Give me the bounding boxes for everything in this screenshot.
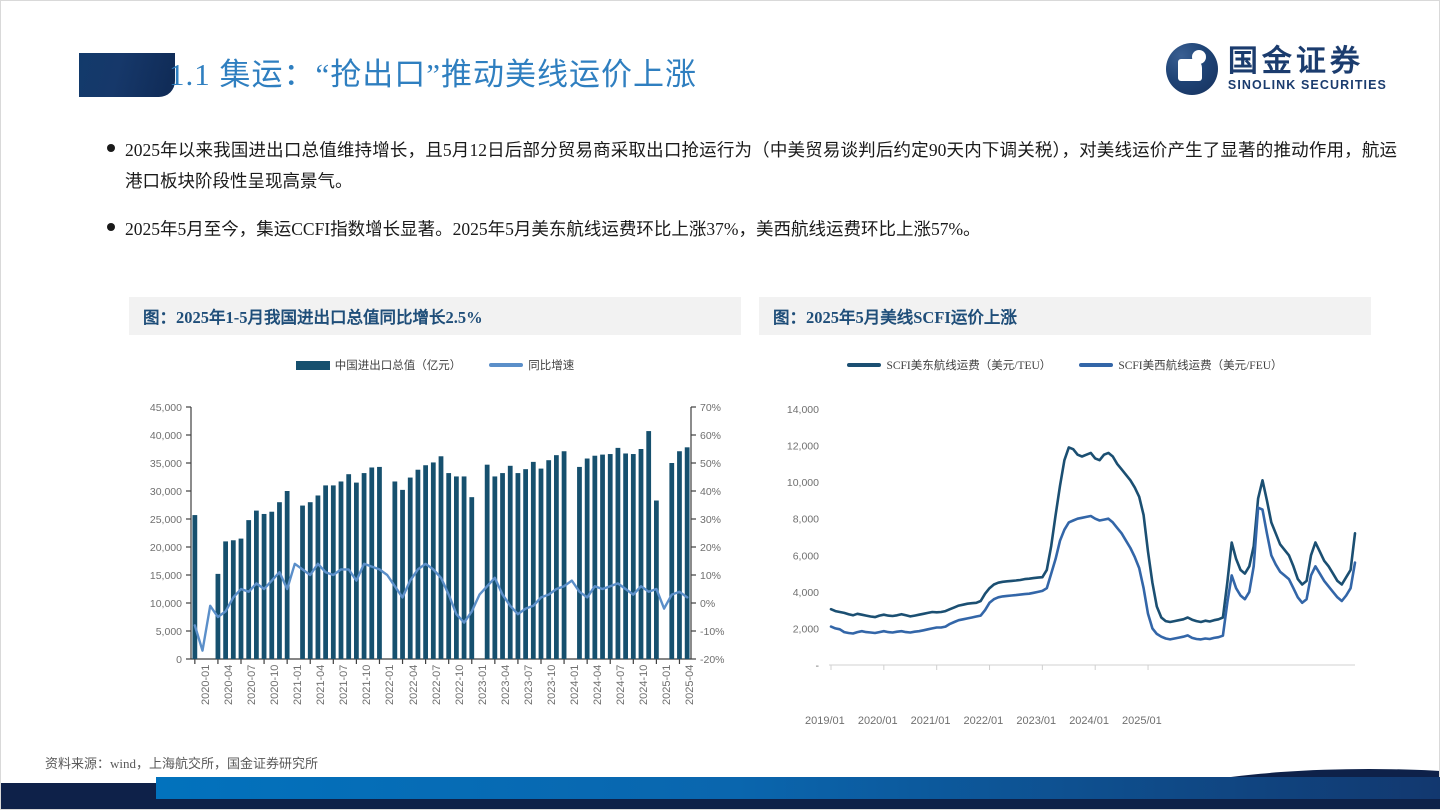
logo-en-name: SINOLINK SECURITIES [1228,78,1387,92]
svg-text:4,000: 4,000 [793,587,819,599]
x-tick-label: 2021-10 [361,665,373,705]
slide: 1.1 集运：“抢出口”推动美线运价上涨 国金证券 SINOLINK SECUR… [0,0,1440,810]
svg-text:10,000: 10,000 [787,477,819,489]
chart-body-scfi: SCFI美东航线运费（美元/TEU） SCFI美西航线运费（美元/FEU） -2… [759,335,1371,755]
chart-plot-trade: 05,00010,00015,00020,00025,00030,00035,0… [129,397,741,697]
x-tick-label: 2019/01 [805,715,845,727]
x-tick-label: 2020-10 [269,665,281,705]
chart-title-trade: 图：2025年1-5月我国进出口总值同比增长2.5% [143,304,483,328]
legend-label: SCFI美东航线运费（美元/TEU） [886,357,1051,373]
logo-text: 国金证券 SINOLINK SECURITIES [1228,46,1387,92]
svg-text:20,000: 20,000 [150,542,182,554]
x-tick-label: 2022-04 [408,665,420,705]
chart-title-bar-trade: 图：2025年1-5月我国进出口总值同比增长2.5% [129,297,741,335]
chart-body-trade: 中国进出口总值（亿元） 同比增速 05,00010,00015,00020,00… [129,335,741,755]
legend-item-scfi-west: SCFI美西航线运费（美元/FEU） [1079,357,1282,373]
bullet-dot-icon [107,223,115,231]
x-tick-label: 2022-10 [454,665,466,705]
svg-text:15,000: 15,000 [150,570,182,582]
x-tick-label: 2024-07 [615,665,627,705]
x-tick-label: 2023-04 [500,665,512,705]
bullet-item: 2025年以来我国进出口总值维持增长，且5月12日后部分贸易商采取出口抢运行为（… [107,135,1397,196]
x-tick-label: 2021-01 [292,665,304,705]
svg-text:2,000: 2,000 [793,623,819,635]
legend-label: 同比增速 [528,357,574,373]
source-note: 资料来源：wind，上海航交所，国金证券研究所 [45,753,318,772]
svg-text:60%: 60% [700,430,721,442]
scfi-chart-svg: -2,0004,0006,0008,00010,00012,00014,000 [759,397,1371,697]
x-tick-label: 2024-10 [638,665,650,705]
x-tick-label: 2023-10 [546,665,558,705]
x-tick-label: 2020-01 [200,665,212,705]
x-tick-label: 2021/01 [911,715,951,727]
svg-text:6,000: 6,000 [793,550,819,562]
chart-title-scfi: 图：2025年5月美线SCFI运价上涨 [773,304,1017,328]
svg-text:20%: 20% [700,542,721,554]
svg-text:-20%: -20% [700,654,725,666]
svg-text:45,000: 45,000 [150,402,182,414]
svg-text:5,000: 5,000 [156,626,182,638]
logo-cn-name: 国金证券 [1228,46,1387,78]
legend-item-trade-bar: 中国进出口总值（亿元） [296,357,462,373]
x-tick-label: 2023-01 [477,665,489,705]
bullet-dot-icon [107,144,115,152]
svg-text:-: - [816,660,820,672]
legend-swatch-icon [489,363,523,367]
svg-text:40,000: 40,000 [150,430,182,442]
chart-legend-scfi: SCFI美东航线运费（美元/TEU） SCFI美西航线运费（美元/FEU） [759,335,1371,373]
svg-text:70%: 70% [700,402,721,414]
chart-panel-trade: 图：2025年1-5月我国进出口总值同比增长2.5% 中国进出口总值（亿元） 同… [129,297,741,755]
chart-title-bar-scfi: 图：2025年5月美线SCFI运价上涨 [759,297,1371,335]
svg-text:30%: 30% [700,514,721,526]
svg-text:40%: 40% [700,486,721,498]
x-tick-label: 2020-04 [223,665,235,705]
sinolink-circle-logo-icon [1166,43,1218,95]
bullet-list: 2025年以来我国进出口总值维持增长，且5月12日后部分贸易商采取出口抢运行为（… [107,135,1397,263]
bullet-text: 2025年以来我国进出口总值维持增长，且5月12日后部分贸易商采取出口抢运行为（… [125,135,1397,196]
svg-text:0: 0 [176,654,182,666]
x-tick-label: 2022/01 [964,715,1004,727]
x-tick-label: 2022-07 [431,665,443,705]
x-tick-label: 2021-04 [315,665,327,705]
legend-swatch-icon [296,361,330,370]
x-tick-label: 2022-01 [384,665,396,705]
page-title: 1.1 集运：“抢出口”推动美线运价上涨 [169,49,697,94]
bullet-item: 2025年5月至今，集运CCFI指数增长显著。2025年5月美东航线运费环比上涨… [107,214,1397,245]
trade-chart-svg: 05,00010,00015,00020,00025,00030,00035,0… [129,397,741,697]
svg-text:-10%: -10% [700,626,725,638]
company-logo: 国金证券 SINOLINK SECURITIES [1166,43,1387,95]
footer-blue-bar [156,777,1440,799]
svg-text:10,000: 10,000 [150,598,182,610]
svg-text:8,000: 8,000 [793,514,819,526]
bullet-text: 2025年5月至今，集运CCFI指数增长显著。2025年5月美东航线运费环比上涨… [125,214,981,245]
x-tick-label: 2025-01 [661,665,673,705]
svg-text:14,000: 14,000 [787,404,819,416]
x-tick-label: 2020-07 [246,665,258,705]
svg-text:35,000: 35,000 [150,458,182,470]
svg-text:50%: 50% [700,458,721,470]
svg-text:12,000: 12,000 [787,441,819,453]
x-tick-label: 2024-04 [592,665,604,705]
x-tick-label: 2023-07 [523,665,535,705]
x-tick-label: 2020/01 [858,715,898,727]
legend-label: 中国进出口总值（亿元） [335,357,462,373]
svg-text:10%: 10% [700,570,721,582]
legend-item-scfi-east: SCFI美东航线运费（美元/TEU） [847,357,1051,373]
x-tick-label: 2025/01 [1122,715,1162,727]
chart-plot-scfi: -2,0004,0006,0008,00010,00012,00014,000 [759,397,1371,697]
chart-legend-trade: 中国进出口总值（亿元） 同比增速 [129,335,741,373]
legend-swatch-icon [847,363,881,367]
x-tick-label: 2024-01 [569,665,581,705]
x-tick-label: 2024/01 [1069,715,1109,727]
legend-item-trade-line: 同比增速 [489,357,574,373]
legend-swatch-icon [1079,363,1113,367]
legend-label: SCFI美西航线运费（美元/FEU） [1118,357,1282,373]
x-tick-label: 2025-04 [684,665,696,705]
x-tick-label: 2021-07 [338,665,350,705]
x-tick-label: 2023/01 [1016,715,1056,727]
svg-text:0%: 0% [700,598,715,610]
title-accent-block [79,53,175,97]
svg-text:30,000: 30,000 [150,486,182,498]
svg-text:25,000: 25,000 [150,514,182,526]
chart-panel-scfi: 图：2025年5月美线SCFI运价上涨 SCFI美东航线运费（美元/TEU） S… [759,297,1371,755]
